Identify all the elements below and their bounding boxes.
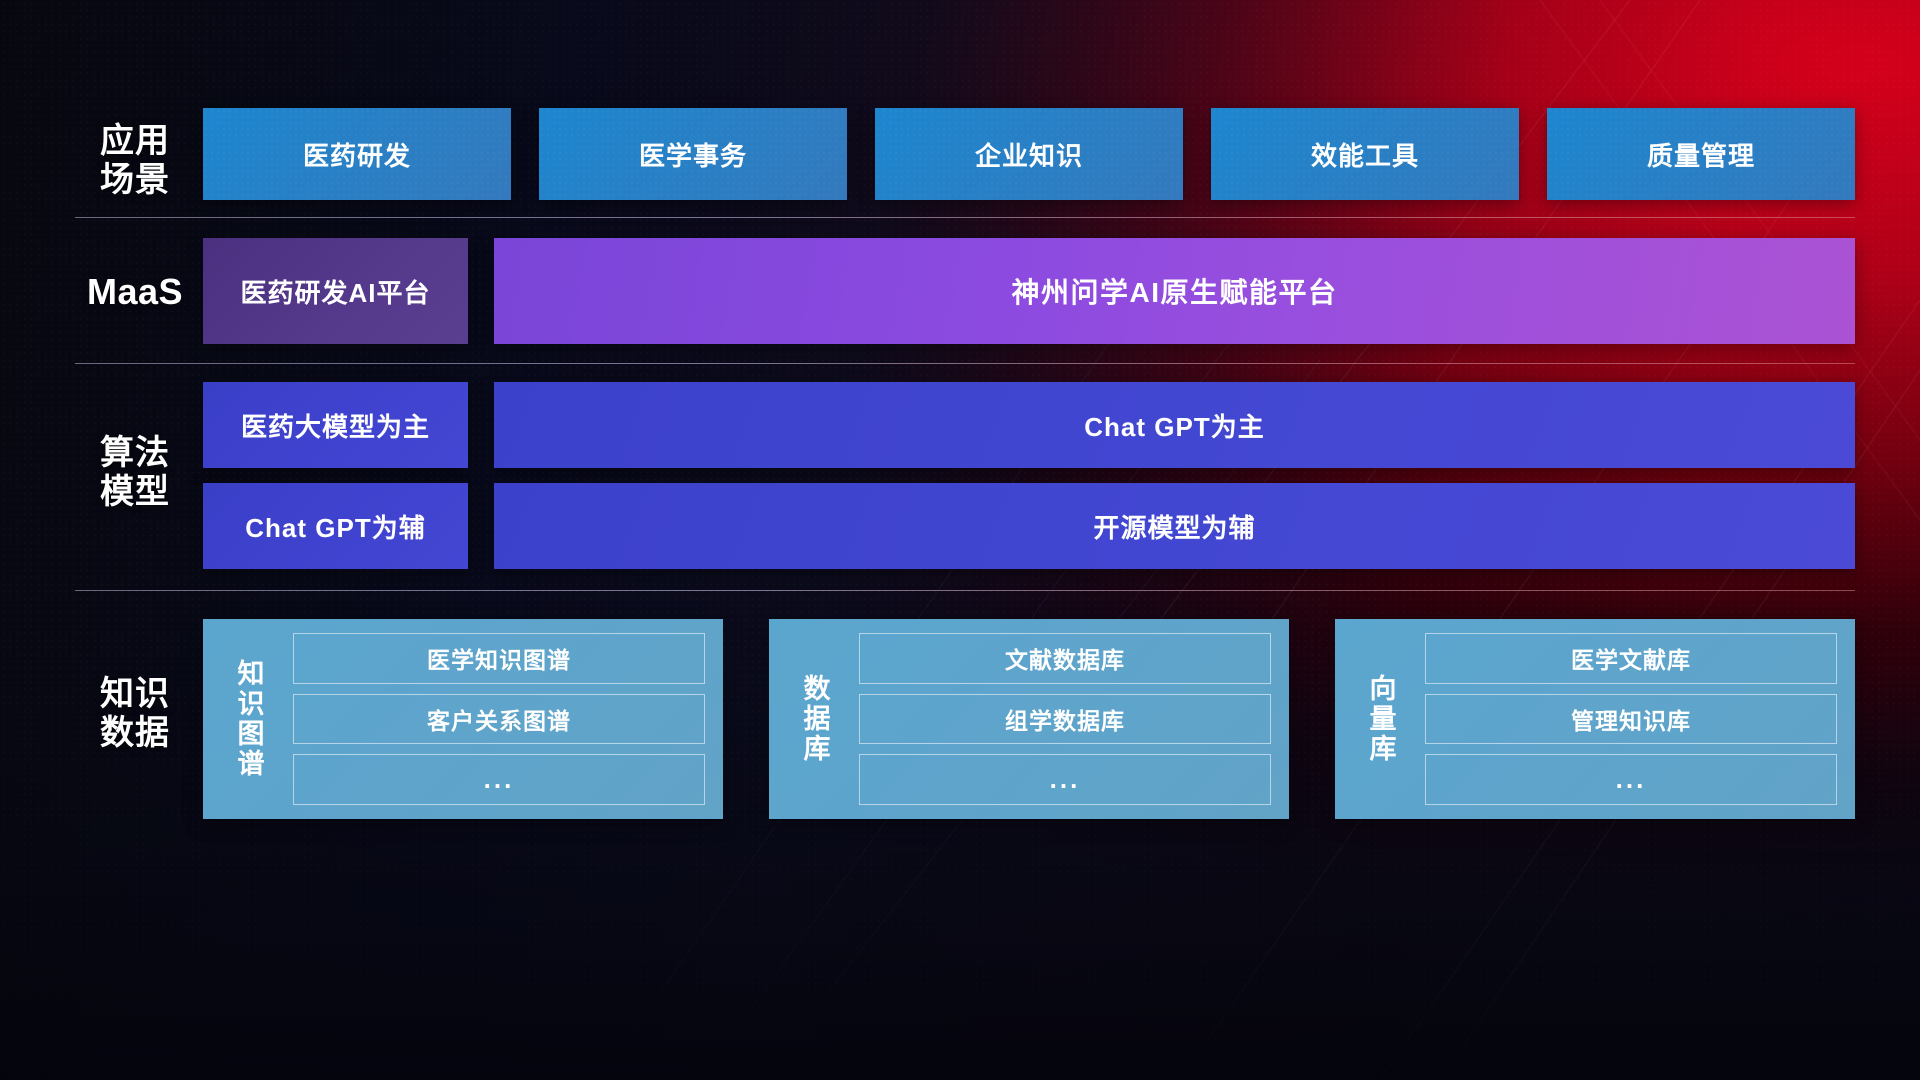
app-box-drug-rd[interactable]: 医药研发 xyxy=(203,108,511,200)
knowledge-group-knowledge-graph: 知识图谱 医学知识图谱 客户关系图谱 ... xyxy=(203,619,723,819)
maas-boxes: 医药研发AI平台 神州问学AI原生赋能平台 xyxy=(203,238,1855,344)
knowledge-group-items: 文献数据库 组学数据库 ... xyxy=(859,633,1271,805)
diagram-content: 应用 场景 医药研发 医学事务 企业知识 效能工具 质量管理 MaaS 医药研发… xyxy=(0,0,1920,1080)
knowledge-item-label: ... xyxy=(484,764,515,795)
knowledge-item-more[interactable]: ... xyxy=(859,754,1271,805)
algo-box-chatgpt-primary[interactable]: Chat GPT为主 xyxy=(494,382,1855,468)
knowledge-item-label: ... xyxy=(1050,764,1081,795)
knowledge-group-label: 向量库 xyxy=(1349,633,1411,805)
knowledge-item-label: 文献数据库 xyxy=(1005,641,1125,675)
app-box-label: 效能工具 xyxy=(1311,136,1419,173)
knowledge-item-label: 管理知识库 xyxy=(1571,702,1691,736)
knowledge-group-vector-db: 向量库 医学文献库 管理知识库 ... xyxy=(1335,619,1855,819)
row-label-algorithm-models: 算法 模型 xyxy=(75,434,195,512)
app-box-label: 质量管理 xyxy=(1647,136,1755,173)
divider-apps-maas xyxy=(75,217,1855,218)
knowledge-item-literature-db[interactable]: 文献数据库 xyxy=(859,633,1271,684)
knowledge-item-label: 组学数据库 xyxy=(1005,702,1125,736)
divider-maas-algo xyxy=(75,363,1855,364)
knowledge-item-management-kb[interactable]: 管理知识库 xyxy=(1425,694,1837,745)
application-boxes: 医药研发 医学事务 企业知识 效能工具 质量管理 xyxy=(203,108,1855,200)
maas-box-shenzhou-wenxue-platform[interactable]: 神州问学AI原生赋能平台 xyxy=(494,238,1855,344)
knowledge-group-label: 数据库 xyxy=(783,633,845,805)
row-label-line-2: 场景 xyxy=(75,161,195,200)
maas-box-drug-rd-ai-platform[interactable]: 医药研发AI平台 xyxy=(203,238,468,344)
algorithm-line-primary: 医药大模型为主 Chat GPT为主 xyxy=(203,382,1855,468)
algo-box-opensource-secondary[interactable]: 开源模型为辅 xyxy=(494,483,1855,569)
maas-box-label: 神州问学AI原生赋能平台 xyxy=(1011,271,1337,311)
row-label-line-2: 数据 xyxy=(75,714,195,753)
knowledge-item-label: 医学文献库 xyxy=(1571,641,1691,675)
knowledge-item-more[interactable]: ... xyxy=(293,754,705,805)
app-box-label: 医药研发 xyxy=(303,136,411,173)
app-box-quality-management[interactable]: 质量管理 xyxy=(1547,108,1855,200)
app-box-enterprise-knowledge[interactable]: 企业知识 xyxy=(875,108,1183,200)
row-label-line-1: 算法 xyxy=(75,434,195,473)
knowledge-item-label: ... xyxy=(1616,764,1647,795)
divider-algo-knowledge xyxy=(75,590,1855,591)
knowledge-item-omics-db[interactable]: 组学数据库 xyxy=(859,694,1271,745)
knowledge-item-medical-literature[interactable]: 医学文献库 xyxy=(1425,633,1837,684)
knowledge-groups: 知识图谱 医学知识图谱 客户关系图谱 ... 数据库 文献数据库 组学数据库 .… xyxy=(203,619,1855,819)
knowledge-item-customer-kg[interactable]: 客户关系图谱 xyxy=(293,694,705,745)
app-box-efficiency-tools[interactable]: 效能工具 xyxy=(1211,108,1519,200)
algorithm-line-secondary: Chat GPT为辅 开源模型为辅 xyxy=(203,483,1855,569)
row-label-knowledge-data: 知识 数据 xyxy=(75,675,195,753)
row-algorithm-models: 算法 模型 医药大模型为主 Chat GPT为主 Chat GPT为辅 开源模型… xyxy=(0,382,1920,569)
algo-box-pharma-llm-primary[interactable]: 医药大模型为主 xyxy=(203,382,468,468)
app-box-label: 医学事务 xyxy=(639,136,747,173)
knowledge-group-items: 医学文献库 管理知识库 ... xyxy=(1425,633,1837,805)
maas-box-label: 医药研发AI平台 xyxy=(240,273,430,310)
knowledge-item-label: 医学知识图谱 xyxy=(427,641,571,675)
knowledge-item-label: 客户关系图谱 xyxy=(427,702,571,736)
algorithm-boxes: 医药大模型为主 Chat GPT为主 Chat GPT为辅 开源模型为辅 xyxy=(203,382,1855,569)
row-label-line-1: 知识 xyxy=(75,675,195,714)
app-box-medical-affairs[interactable]: 医学事务 xyxy=(539,108,847,200)
algo-box-chatgpt-secondary[interactable]: Chat GPT为辅 xyxy=(203,483,468,569)
knowledge-group-items: 医学知识图谱 客户关系图谱 ... xyxy=(293,633,705,805)
row-label-line-2: 模型 xyxy=(75,473,195,512)
knowledge-group-database: 数据库 文献数据库 组学数据库 ... xyxy=(769,619,1289,819)
row-label-maas: MaaS xyxy=(75,271,195,312)
algo-box-label: 开源模型为辅 xyxy=(1093,508,1255,545)
knowledge-group-label: 知识图谱 xyxy=(217,633,279,805)
row-label-application-scenarios: 应用 场景 xyxy=(75,122,195,200)
algo-box-label: 医药大模型为主 xyxy=(241,407,430,444)
row-label-line-1: 应用 xyxy=(75,122,195,161)
algo-box-label: Chat GPT为主 xyxy=(1084,407,1264,444)
slide-canvas: 应用 场景 医药研发 医学事务 企业知识 效能工具 质量管理 MaaS 医药研发… xyxy=(0,0,1920,1080)
knowledge-item-more[interactable]: ... xyxy=(1425,754,1837,805)
row-maas: MaaS 医药研发AI平台 神州问学AI原生赋能平台 xyxy=(0,238,1920,344)
row-application-scenarios: 应用 场景 医药研发 医学事务 企业知识 效能工具 质量管理 xyxy=(0,108,1920,200)
app-box-label: 企业知识 xyxy=(975,136,1083,173)
knowledge-item-medical-kg[interactable]: 医学知识图谱 xyxy=(293,633,705,684)
algo-box-label: Chat GPT为辅 xyxy=(245,508,425,545)
row-knowledge-data: 知识 数据 知识图谱 医学知识图谱 客户关系图谱 ... 数据库 文献数据库 xyxy=(0,619,1920,819)
